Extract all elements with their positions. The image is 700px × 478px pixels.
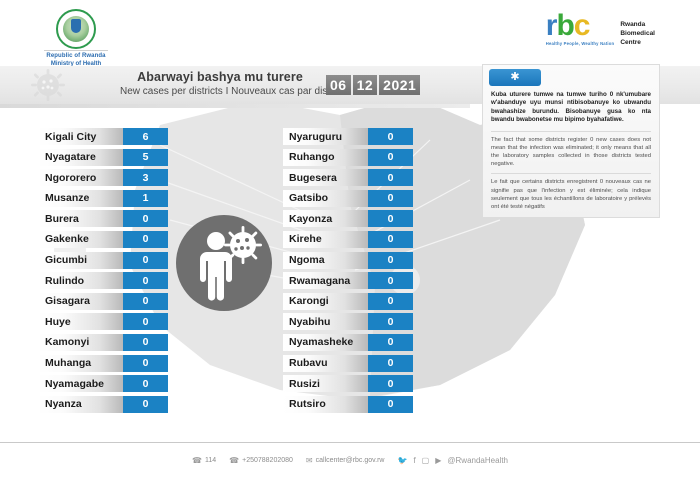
district-case-count: 0 [368, 169, 413, 186]
footer-phone-short[interactable]: ☎ 114 [192, 457, 216, 465]
district-row: Rubavu0 [283, 355, 413, 372]
district-row: Nyaruguru0 [283, 128, 413, 145]
district-case-count: 0 [123, 210, 168, 227]
person-icon [200, 232, 232, 301]
rbc-wordmark: rbc Healthy People, Wealthy Nation [546, 12, 615, 46]
district-name: Musanze [38, 190, 123, 207]
district-case-count: 0 [368, 272, 413, 289]
district-case-count: 6 [123, 128, 168, 145]
district-name: Burera [38, 210, 123, 227]
district-name: Nyanza [38, 396, 123, 413]
district-row: Nyabihu0 [283, 313, 413, 330]
district-case-count: 0 [368, 231, 413, 248]
district-name: Muhanga [38, 355, 123, 372]
district-case-count: 0 [368, 293, 413, 310]
district-name: Nyaruguru [283, 128, 368, 145]
footer-phone-full-label: +250788202080 [242, 457, 293, 464]
district-row: Bugesera0 [283, 169, 413, 186]
page-title-en-fr: New cases per districts I Nouveaux cas p… [120, 85, 320, 99]
district-case-count: 0 [368, 313, 413, 330]
page-title-kinyarwanda: Abarwayi bashya mu turere [120, 70, 320, 85]
coronavirus-icon [224, 226, 262, 264]
district-name: Kigali City [38, 128, 123, 145]
district-name: Huye [38, 313, 123, 330]
disclaimer-panel: ✱ Kuba uturere tumwe na tumwe turiho 0 n… [482, 64, 660, 218]
phone-icon: ☎ [192, 457, 202, 465]
footer-email[interactable]: ✉ callcenter@rbc.gov.rw [306, 457, 385, 465]
district-row: Nyamagabe0 [38, 375, 168, 392]
district-case-count: 0 [123, 334, 168, 351]
asterisk-icon: ✱ [489, 69, 541, 86]
infographic-page: Republic of Rwanda Ministry of Health rb… [0, 0, 700, 478]
district-list-left: Kigali City6Nyagatare5Ngororero3Musanze1… [38, 128, 168, 416]
district-name: Gakenke [38, 231, 123, 248]
rbc-tagline: Healthy People, Wealthy Nation [546, 41, 615, 46]
district-case-count: 0 [368, 210, 413, 227]
district-name: Nyamasheke [283, 334, 368, 351]
district-case-count: 1 [123, 190, 168, 207]
district-case-count: 0 [123, 396, 168, 413]
district-row: Ngoma0 [283, 252, 413, 269]
district-name: Rulindo [38, 272, 123, 289]
district-name: Rubavu [283, 355, 368, 372]
district-row: Gisagara0 [38, 293, 168, 310]
district-name: Rusizi [283, 375, 368, 392]
report-date: 06 12 2021 [326, 75, 420, 95]
district-row: Kayonza0 [283, 210, 413, 227]
coronavirus-icon [30, 68, 66, 107]
district-row: Burera0 [38, 210, 168, 227]
date-year: 2021 [379, 75, 420, 95]
district-case-count: 0 [368, 334, 413, 351]
district-case-count: 0 [123, 355, 168, 372]
district-name: Nyagatare [38, 149, 123, 166]
district-row: Karongi0 [283, 293, 413, 310]
page-header: Republic of Rwanda Ministry of Health rb… [0, 0, 700, 66]
date-month: 12 [353, 75, 378, 95]
district-name: Ngororero [38, 169, 123, 186]
district-name: Ruhango [283, 149, 368, 166]
rbc-name-line1: Rwanda [620, 20, 655, 29]
district-row: Rwamagana0 [283, 272, 413, 289]
district-case-count: 0 [368, 375, 413, 392]
page-footer: ☎ 114 ☎ +250788202080 ✉ callcenter@rbc.g… [0, 443, 700, 478]
rbc-letter-b: b [556, 9, 573, 42]
rbc-full-name: Rwanda Biomedical Centre [620, 12, 655, 47]
district-case-count: 0 [123, 375, 168, 392]
district-name: Bugesera [283, 169, 368, 186]
district-case-count: 0 [123, 252, 168, 269]
district-row: Muhanga0 [38, 355, 168, 372]
district-name: Gatsibo [283, 190, 368, 207]
rbc-letter-r: r [546, 9, 557, 42]
disclaimer-divider-2 [491, 173, 651, 174]
youtube-icon[interactable]: ▶ [435, 456, 441, 465]
district-name: Kayonza [283, 210, 368, 227]
district-row: Musanze1 [38, 190, 168, 207]
ministry-of-health-logo: Republic of Rwanda Ministry of Health [40, 9, 112, 68]
district-case-count: 0 [368, 149, 413, 166]
instagram-icon[interactable]: ▢ [422, 456, 430, 465]
district-row: Ruhango0 [283, 149, 413, 166]
district-case-count: 0 [123, 313, 168, 330]
district-row: Rutsiro0 [283, 396, 413, 413]
facebook-icon[interactable]: f [413, 456, 415, 465]
rwanda-coat-of-arms-icon [56, 9, 96, 49]
district-row: Huye0 [38, 313, 168, 330]
district-case-count: 0 [368, 190, 413, 207]
date-day: 06 [326, 75, 351, 95]
footer-phone-full[interactable]: ☎ +250788202080 [229, 457, 293, 465]
district-name: Kirehe [283, 231, 368, 248]
district-row: Kigali City6 [38, 128, 168, 145]
district-row: Nyamasheke0 [283, 334, 413, 351]
district-name: Ngoma [283, 252, 368, 269]
district-name: Kamonyi [38, 334, 123, 351]
disclaimer-english: The fact that some districts register 0 … [491, 136, 651, 169]
district-case-count: 0 [123, 231, 168, 248]
rbc-logo: rbc Healthy People, Wealthy Nation Rwand… [546, 12, 655, 56]
footer-email-label: callcenter@rbc.gov.rw [316, 457, 385, 464]
district-row: Rulindo0 [38, 272, 168, 289]
district-case-count: 0 [368, 355, 413, 372]
twitter-icon[interactable]: 🐦 [397, 456, 407, 465]
disclaimer-french: Le fait que certains districts enregistr… [491, 178, 651, 211]
district-row: Nyagatare5 [38, 149, 168, 166]
logo-divider [44, 50, 108, 51]
district-name: Karongi [283, 293, 368, 310]
district-name: Rutsiro [283, 396, 368, 413]
district-row: Gakenke0 [38, 231, 168, 248]
district-name: Gicumbi [38, 252, 123, 269]
district-case-count: 0 [123, 293, 168, 310]
title-texts: Abarwayi bashya mu turere New cases per … [120, 70, 320, 99]
rbc-name-line3: Centre [620, 38, 655, 47]
district-name: Rwamagana [283, 272, 368, 289]
district-case-count: 3 [123, 169, 168, 186]
disclaimer-divider-1 [491, 131, 651, 132]
footer-phone-short-label: 114 [205, 457, 216, 464]
rbc-name-line2: Biomedical [620, 29, 655, 38]
district-name: Nyabihu [283, 313, 368, 330]
district-row: Kamonyi0 [38, 334, 168, 351]
district-row: Gicumbi0 [38, 252, 168, 269]
district-name: Gisagara [38, 293, 123, 310]
district-row: Nyanza0 [38, 396, 168, 413]
mail-icon: ✉ [306, 457, 313, 465]
rbc-letter-c: c [574, 9, 590, 42]
district-case-count: 0 [368, 396, 413, 413]
whatsapp-icon: ☎ [229, 457, 239, 465]
infected-person-badge [176, 215, 272, 311]
district-name: Nyamagabe [38, 375, 123, 392]
district-row: Rusizi0 [283, 375, 413, 392]
footer-handle-label: @RwandaHealth [447, 456, 508, 465]
district-row: Gatsibo0 [283, 190, 413, 207]
district-case-count: 0 [368, 252, 413, 269]
district-list-right: Nyaruguru0Ruhango0Bugesera0Gatsibo0Kayon… [283, 128, 413, 416]
district-case-count: 0 [123, 272, 168, 289]
district-row: Ngororero3 [38, 169, 168, 186]
disclaimer-kinyarwanda: Kuba uturere tumwe na tumwe turiho 0 nk'… [491, 91, 651, 125]
ministry-line1: Republic of Rwanda [40, 52, 112, 60]
district-row: Kirehe0 [283, 231, 413, 248]
district-case-count: 5 [123, 149, 168, 166]
district-case-count: 0 [368, 128, 413, 145]
footer-social-links: 🐦 f ▢ ▶ @RwandaHealth [397, 456, 508, 465]
